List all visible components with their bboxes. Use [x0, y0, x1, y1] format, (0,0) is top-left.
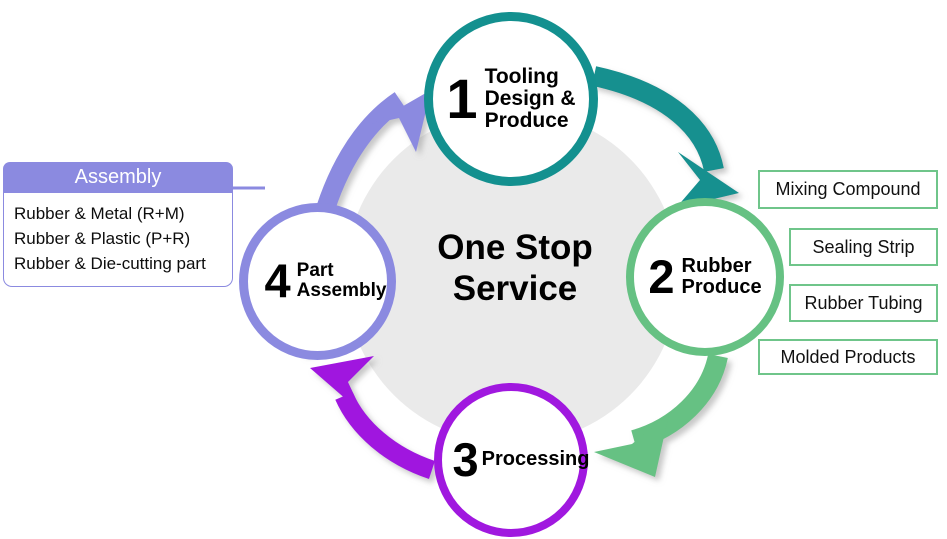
assembly-panel: Assembly Rubber & Metal (R+M) Rubber & P…	[3, 162, 233, 287]
step-label-2: Rubber Produce	[682, 256, 762, 298]
product-box-rubber-tubing[interactable]: Rubber Tubing	[789, 284, 938, 322]
step-label-3: Processing	[482, 449, 590, 470]
step-number-4: 4	[265, 260, 291, 302]
step-label-4-line-1: Part	[297, 261, 387, 281]
assembly-item: Rubber & Die-cutting part	[14, 251, 232, 276]
product-box-sealing-strip[interactable]: Sealing Strip	[789, 228, 938, 266]
assembly-panel-items: Rubber & Metal (R+M) Rubber & Plastic (P…	[3, 193, 233, 287]
product-box-molded-products[interactable]: Molded Products	[758, 339, 938, 375]
step-label-2-line-2: Produce	[682, 277, 762, 298]
step-label-1-line-1: Tooling	[485, 66, 576, 88]
assembly-item: Rubber & Metal (R+M)	[14, 201, 232, 226]
step-number-1: 1	[446, 74, 477, 124]
diagram-canvas: One Stop Service 1 Tooling Design & Prod…	[0, 0, 947, 539]
step-number-2: 2	[648, 256, 674, 298]
step-number-3: 3	[453, 439, 479, 481]
step-node-2-rubber-produce[interactable]: 2 Rubber Produce	[626, 198, 784, 356]
step-label-4-line-2: Assembly	[297, 281, 387, 301]
step-node-4-part-assembly[interactable]: 4 Part Assembly	[239, 203, 396, 360]
step-label-1-line-2: Design &	[485, 88, 576, 110]
step-node-3-processing[interactable]: 3 Processing	[434, 383, 588, 537]
assembly-panel-title: Assembly	[3, 162, 233, 193]
product-box-mixing-compound[interactable]: Mixing Compound	[758, 170, 938, 209]
step-node-1-tooling-design-produce[interactable]: 1 Tooling Design & Produce	[424, 12, 598, 186]
step-label-1-line-3: Produce	[485, 110, 576, 132]
step-label-4: Part Assembly	[297, 261, 387, 301]
step-label-2-line-1: Rubber	[682, 256, 762, 277]
assembly-item: Rubber & Plastic (P+R)	[14, 226, 232, 251]
step-label-1: Tooling Design & Produce	[485, 66, 576, 133]
